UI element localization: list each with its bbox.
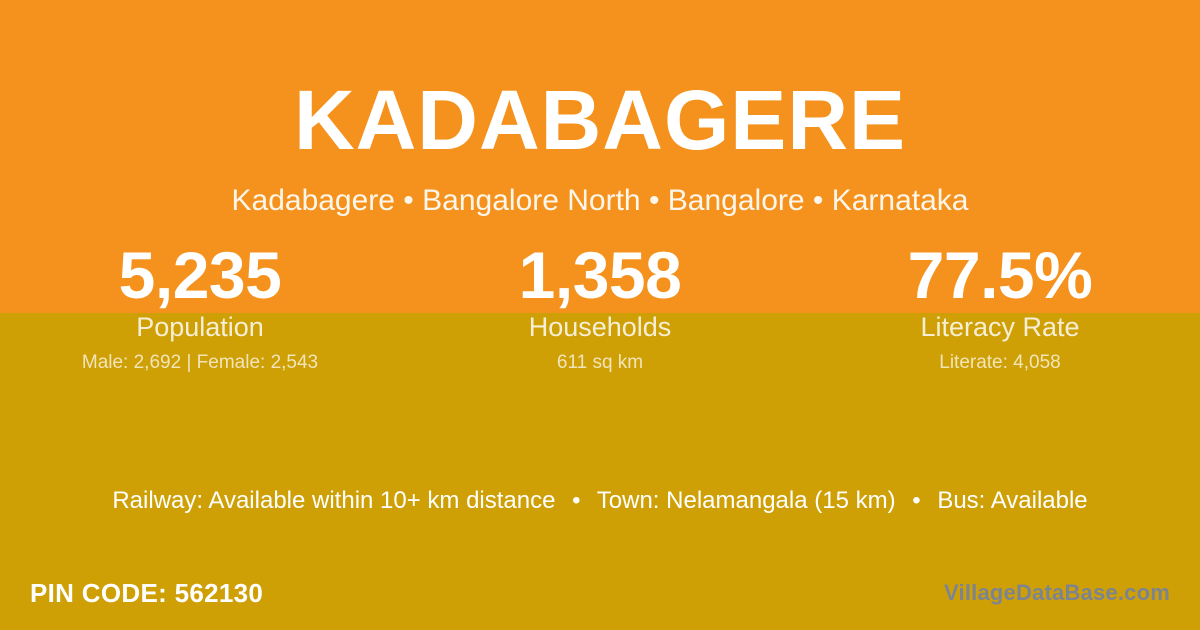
pin-code: PIN CODE: 562130 (30, 578, 263, 608)
stat-subtext: 611 sq km (557, 351, 643, 375)
stats-row: 5,235 Population Male: 2,692 | Female: 2… (0, 240, 1200, 375)
page-title: KADABAGERE (294, 78, 906, 162)
stat-label: Households (529, 311, 672, 343)
stat-value: 5,235 (119, 240, 282, 310)
stat-literacy-rate: 77.5% Literacy Rate Literate: 4,058 (800, 240, 1200, 375)
card-header: KADABAGERE Kadabagere • Bangalore North … (0, 0, 1200, 232)
amenity-separator: • (902, 486, 930, 516)
village-info-card: KADABAGERE Kadabagere • Bangalore North … (0, 0, 1200, 630)
amenities-line: Railway: Available within 10+ km distanc… (0, 486, 1200, 516)
breadcrumb: Kadabagere • Bangalore North • Bangalore… (232, 184, 969, 217)
stat-subtext: Male: 2,692 | Female: 2,543 (82, 351, 318, 375)
stat-label: Population (136, 311, 264, 343)
amenity-separator: • (562, 486, 590, 516)
stat-subtext: Literate: 4,058 (939, 351, 1060, 375)
stat-value: 1,358 (519, 240, 682, 310)
stat-value: 77.5% (908, 240, 1093, 310)
stat-households: 1,358 Households 611 sq km (400, 240, 800, 375)
amenity-town: Town: Nelamangala (15 km) (597, 487, 896, 514)
card-footer: PIN CODE: 562130 VillageDataBase.com (0, 556, 1200, 630)
amenity-bus: Bus: Available (937, 487, 1087, 514)
stat-label: Literacy Rate (920, 311, 1079, 343)
amenity-railway: Railway: Available within 10+ km distanc… (112, 487, 555, 514)
brand-watermark: VillageDataBase.com (944, 580, 1170, 606)
stat-population: 5,235 Population Male: 2,692 | Female: 2… (0, 240, 400, 375)
